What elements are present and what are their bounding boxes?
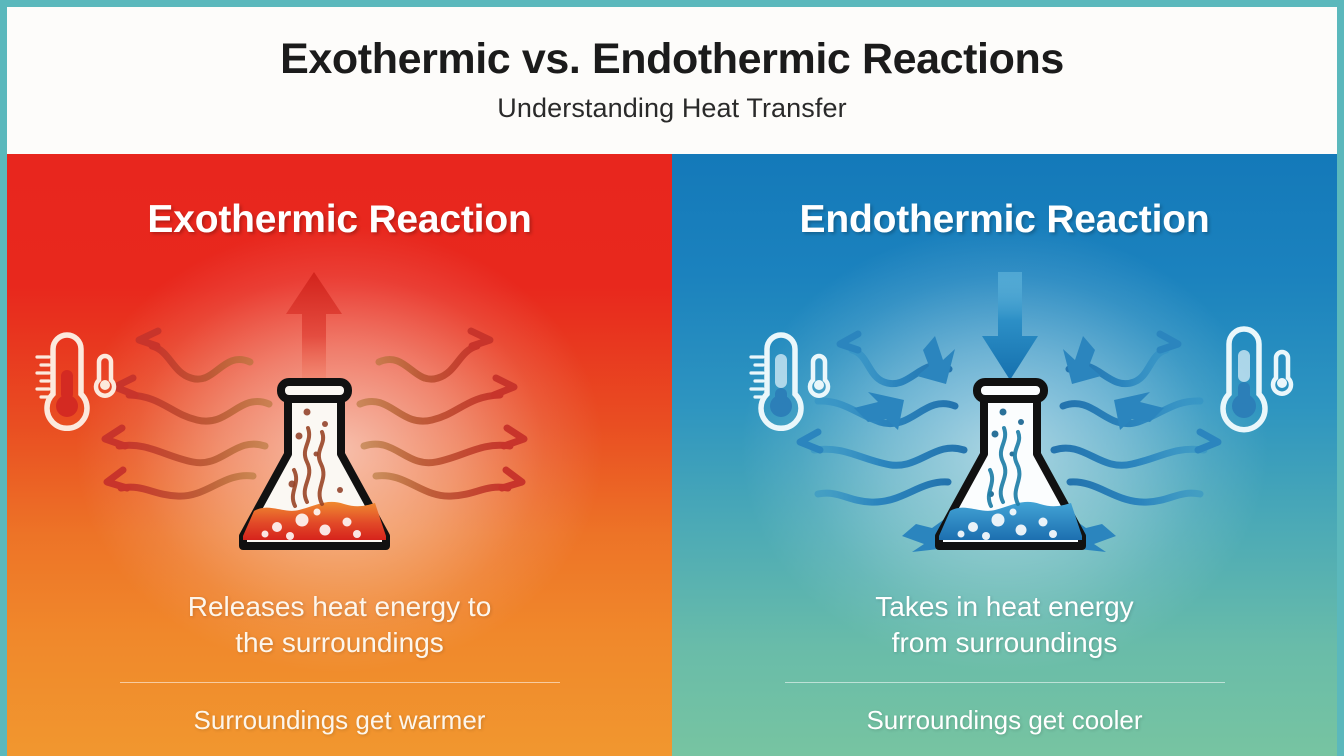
- heat-wave-arrows-outward-icon: [105, 331, 269, 496]
- thermometer-cold-icon: [1223, 329, 1291, 430]
- comparison-panels: Exothermic Reaction: [7, 154, 1337, 756]
- heat-wave-arrows-inward-right-icon: [1054, 334, 1218, 552]
- desc-line-1: Releases heat energy to: [188, 591, 492, 622]
- thermometer-cold-icon: [751, 335, 828, 428]
- panel-title-endothermic: Endothermic Reaction: [672, 198, 1337, 242]
- endothermic-footer: Surroundings get cooler: [672, 705, 1337, 736]
- exothermic-footer: Surroundings get warmer: [7, 705, 672, 736]
- thermometer-hot-icon: [37, 335, 114, 428]
- panel-title-exothermic: Exothermic Reaction: [7, 198, 672, 242]
- exothermic-description: Releases heat energy to the surroundings…: [7, 589, 672, 756]
- erlenmeyer-flask-icon: [243, 382, 386, 546]
- panel-endothermic: Endothermic Reaction: [672, 154, 1337, 756]
- infographic-root: Exothermic vs. Endothermic Reactions Und…: [0, 0, 1344, 756]
- desc-line-2: the surroundings: [235, 627, 444, 658]
- panel-exothermic: Exothermic Reaction: [7, 154, 672, 756]
- exothermic-description-text: Releases heat energy to the surroundings: [7, 589, 672, 660]
- endothermic-description: Takes in heat energy from surroundings S…: [672, 589, 1337, 756]
- desc-line-2: from surroundings: [892, 627, 1118, 658]
- divider: [120, 682, 560, 683]
- desc-line-1: Takes in heat energy: [875, 591, 1133, 622]
- arrow-down-icon: [982, 272, 1038, 380]
- arrow-up-icon: [286, 272, 342, 379]
- header: Exothermic vs. Endothermic Reactions Und…: [7, 7, 1337, 154]
- page-title: Exothermic vs. Endothermic Reactions: [280, 37, 1064, 82]
- endothermic-description-text: Takes in heat energy from surroundings: [672, 589, 1337, 660]
- divider: [785, 682, 1225, 683]
- page-subtitle: Understanding Heat Transfer: [497, 93, 846, 124]
- heat-wave-arrows-outward-right-icon: [360, 331, 524, 496]
